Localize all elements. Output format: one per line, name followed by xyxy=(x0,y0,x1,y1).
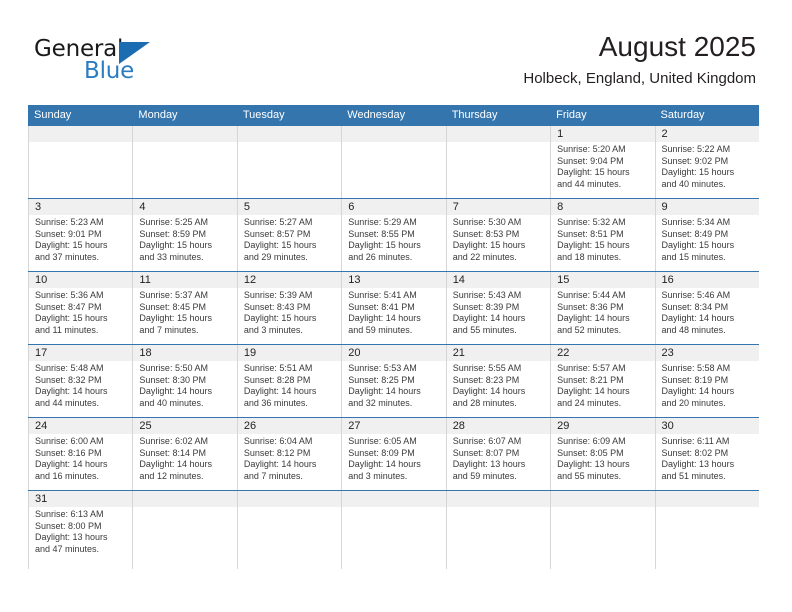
day-number: 16 xyxy=(662,272,754,288)
sunset-text: Sunset: 8:21 PM xyxy=(557,375,649,387)
day-number xyxy=(244,491,336,507)
sunset-text: Sunset: 8:55 PM xyxy=(348,229,440,241)
sunset-text: Sunset: 8:14 PM xyxy=(139,448,231,460)
day-sun-info: Sunrise: 5:23 AM Sunset: 9:01 PM Dayligh… xyxy=(35,217,127,263)
day-cell[interactable] xyxy=(446,491,550,569)
day-cell[interactable]: 27 Sunrise: 6:05 AM Sunset: 8:09 PM Dayl… xyxy=(341,418,445,490)
weekday-header-sunday: Sunday xyxy=(28,105,132,125)
daylight-text-line2: and 11 minutes. xyxy=(35,325,127,337)
day-sun-info: Sunrise: 6:11 AM Sunset: 8:02 PM Dayligh… xyxy=(662,436,754,482)
daylight-text-line2: and 51 minutes. xyxy=(662,471,754,483)
sunset-text: Sunset: 8:59 PM xyxy=(139,229,231,241)
day-cell[interactable]: 10 Sunrise: 5:36 AM Sunset: 8:47 PM Dayl… xyxy=(28,272,132,344)
calendar-grid: Sunday Monday Tuesday Wednesday Thursday… xyxy=(28,105,759,569)
daylight-text-line1: Daylight: 14 hours xyxy=(453,386,545,398)
weekday-header-friday: Friday xyxy=(550,105,654,125)
daylight-text-line2: and 15 minutes. xyxy=(662,252,754,264)
day-cell[interactable] xyxy=(132,126,236,198)
day-number: 29 xyxy=(557,418,649,434)
day-cell[interactable] xyxy=(446,126,550,198)
day-sun-info: Sunrise: 5:34 AM Sunset: 8:49 PM Dayligh… xyxy=(662,217,754,263)
sunrise-text: Sunrise: 5:41 AM xyxy=(348,290,440,302)
day-number: 13 xyxy=(348,272,440,288)
daylight-text-line2: and 37 minutes. xyxy=(35,252,127,264)
day-sun-info: Sunrise: 5:43 AM Sunset: 8:39 PM Dayligh… xyxy=(453,290,545,336)
week-row: 24 Sunrise: 6:00 AM Sunset: 8:16 PM Dayl… xyxy=(28,417,759,490)
sunrise-text: Sunrise: 6:05 AM xyxy=(348,436,440,448)
week-row: 1 Sunrise: 5:20 AM Sunset: 9:04 PM Dayli… xyxy=(28,125,759,198)
day-number: 26 xyxy=(244,418,336,434)
daylight-text-line2: and 47 minutes. xyxy=(35,544,127,556)
weekday-header-monday: Monday xyxy=(132,105,236,125)
page-subtitle: Holbeck, England, United Kingdom xyxy=(523,68,756,90)
sunset-text: Sunset: 8:47 PM xyxy=(35,302,127,314)
sunset-text: Sunset: 8:41 PM xyxy=(348,302,440,314)
daylight-text-line2: and 44 minutes. xyxy=(557,179,649,191)
day-number xyxy=(244,126,336,142)
day-sun-info: Sunrise: 5:37 AM Sunset: 8:45 PM Dayligh… xyxy=(139,290,231,336)
day-cell[interactable] xyxy=(655,491,759,569)
sunset-text: Sunset: 8:45 PM xyxy=(139,302,231,314)
general-blue-logo: General Blue xyxy=(34,36,234,88)
daylight-text-line1: Daylight: 15 hours xyxy=(35,313,127,325)
daylight-text-line2: and 59 minutes. xyxy=(453,471,545,483)
sunrise-text: Sunrise: 5:46 AM xyxy=(662,290,754,302)
daylight-text-line2: and 40 minutes. xyxy=(139,398,231,410)
day-number xyxy=(453,491,545,507)
daylight-text-line2: and 7 minutes. xyxy=(139,325,231,337)
day-cell[interactable]: 8 Sunrise: 5:32 AM Sunset: 8:51 PM Dayli… xyxy=(550,199,654,271)
day-number: 1 xyxy=(557,126,649,142)
day-number xyxy=(662,491,754,507)
sunset-text: Sunset: 8:34 PM xyxy=(662,302,754,314)
sunset-text: Sunset: 9:01 PM xyxy=(35,229,127,241)
day-sun-info: Sunrise: 5:39 AM Sunset: 8:43 PM Dayligh… xyxy=(244,290,336,336)
day-number xyxy=(557,491,649,507)
day-number: 11 xyxy=(139,272,231,288)
day-number: 21 xyxy=(453,345,545,361)
day-number xyxy=(139,491,231,507)
day-cell[interactable] xyxy=(237,491,341,569)
day-cell[interactable] xyxy=(550,491,654,569)
day-sun-info: Sunrise: 5:25 AM Sunset: 8:59 PM Dayligh… xyxy=(139,217,231,263)
day-number: 8 xyxy=(557,199,649,215)
day-cell[interactable] xyxy=(341,491,445,569)
day-cell[interactable]: 3 Sunrise: 5:23 AM Sunset: 9:01 PM Dayli… xyxy=(28,199,132,271)
day-number: 24 xyxy=(35,418,127,434)
day-sun-info: Sunrise: 6:05 AM Sunset: 8:09 PM Dayligh… xyxy=(348,436,440,482)
page-header: General Blue August 2025 Holbeck, Englan… xyxy=(0,0,792,100)
day-sun-info: Sunrise: 5:32 AM Sunset: 8:51 PM Dayligh… xyxy=(557,217,649,263)
day-sun-info: Sunrise: 5:50 AM Sunset: 8:30 PM Dayligh… xyxy=(139,363,231,409)
sunrise-text: Sunrise: 6:13 AM xyxy=(35,509,127,521)
day-sun-info: Sunrise: 5:44 AM Sunset: 8:36 PM Dayligh… xyxy=(557,290,649,336)
page-title: August 2025 xyxy=(523,30,756,64)
daylight-text-line1: Daylight: 15 hours xyxy=(662,167,754,179)
day-number: 17 xyxy=(35,345,127,361)
daylight-text-line2: and 32 minutes. xyxy=(348,398,440,410)
day-number: 9 xyxy=(662,199,754,215)
day-sun-info: Sunrise: 5:36 AM Sunset: 8:47 PM Dayligh… xyxy=(35,290,127,336)
day-cell[interactable]: 9 Sunrise: 5:34 AM Sunset: 8:49 PM Dayli… xyxy=(655,199,759,271)
sunset-text: Sunset: 8:57 PM xyxy=(244,229,336,241)
day-sun-info: Sunrise: 5:53 AM Sunset: 8:25 PM Dayligh… xyxy=(348,363,440,409)
day-sun-info: Sunrise: 5:46 AM Sunset: 8:34 PM Dayligh… xyxy=(662,290,754,336)
day-number: 20 xyxy=(348,345,440,361)
day-cell[interactable]: 18 Sunrise: 5:50 AM Sunset: 8:30 PM Dayl… xyxy=(132,345,236,417)
sunrise-text: Sunrise: 6:09 AM xyxy=(557,436,649,448)
sunrise-text: Sunrise: 5:22 AM xyxy=(662,144,754,156)
daylight-text-line1: Daylight: 14 hours xyxy=(35,386,127,398)
day-sun-info: Sunrise: 5:20 AM Sunset: 9:04 PM Dayligh… xyxy=(557,144,649,190)
daylight-text-line1: Daylight: 15 hours xyxy=(348,240,440,252)
sunrise-text: Sunrise: 6:02 AM xyxy=(139,436,231,448)
daylight-text-line1: Daylight: 14 hours xyxy=(557,313,649,325)
daylight-text-line1: Daylight: 15 hours xyxy=(557,167,649,179)
weekday-header-tuesday: Tuesday xyxy=(237,105,341,125)
day-number xyxy=(35,126,127,142)
daylight-text-line1: Daylight: 14 hours xyxy=(348,313,440,325)
day-number: 31 xyxy=(35,491,127,507)
sunset-text: Sunset: 8:36 PM xyxy=(557,302,649,314)
daylight-text-line2: and 7 minutes. xyxy=(244,471,336,483)
day-number: 2 xyxy=(662,126,754,142)
day-number: 5 xyxy=(244,199,336,215)
daylight-text-line1: Daylight: 13 hours xyxy=(453,459,545,471)
day-number: 18 xyxy=(139,345,231,361)
day-cell[interactable]: 17 Sunrise: 5:48 AM Sunset: 8:32 PM Dayl… xyxy=(28,345,132,417)
day-number xyxy=(348,491,440,507)
day-cell[interactable]: 30 Sunrise: 6:11 AM Sunset: 8:02 PM Dayl… xyxy=(655,418,759,490)
day-cell[interactable]: 1 Sunrise: 5:20 AM Sunset: 9:04 PM Dayli… xyxy=(550,126,654,198)
day-cell[interactable]: 31 Sunrise: 6:13 AM Sunset: 8:00 PM Dayl… xyxy=(28,491,132,569)
sunset-text: Sunset: 8:53 PM xyxy=(453,229,545,241)
weekday-header-saturday: Saturday xyxy=(655,105,759,125)
day-cell[interactable] xyxy=(28,126,132,198)
daylight-text-line2: and 22 minutes. xyxy=(453,252,545,264)
sunrise-text: Sunrise: 5:36 AM xyxy=(35,290,127,302)
sunrise-text: Sunrise: 5:27 AM xyxy=(244,217,336,229)
sunrise-text: Sunrise: 5:51 AM xyxy=(244,363,336,375)
daylight-text-line2: and 55 minutes. xyxy=(557,471,649,483)
daylight-text-line2: and 24 minutes. xyxy=(557,398,649,410)
sunset-text: Sunset: 8:51 PM xyxy=(557,229,649,241)
daylight-text-line1: Daylight: 15 hours xyxy=(662,240,754,252)
day-cell[interactable]: 29 Sunrise: 6:09 AM Sunset: 8:05 PM Dayl… xyxy=(550,418,654,490)
sunrise-text: Sunrise: 5:48 AM xyxy=(35,363,127,375)
day-sun-info: Sunrise: 6:07 AM Sunset: 8:07 PM Dayligh… xyxy=(453,436,545,482)
day-sun-info: Sunrise: 6:04 AM Sunset: 8:12 PM Dayligh… xyxy=(244,436,336,482)
sunset-text: Sunset: 8:16 PM xyxy=(35,448,127,460)
daylight-text-line1: Daylight: 14 hours xyxy=(557,386,649,398)
sunset-text: Sunset: 8:07 PM xyxy=(453,448,545,460)
sunset-text: Sunset: 8:49 PM xyxy=(662,229,754,241)
daylight-text-line1: Daylight: 14 hours xyxy=(348,386,440,398)
sunrise-text: Sunrise: 5:57 AM xyxy=(557,363,649,375)
day-number: 27 xyxy=(348,418,440,434)
daylight-text-line2: and 48 minutes. xyxy=(662,325,754,337)
day-number: 7 xyxy=(453,199,545,215)
daylight-text-line1: Daylight: 15 hours xyxy=(139,240,231,252)
day-number: 19 xyxy=(244,345,336,361)
sunset-text: Sunset: 8:12 PM xyxy=(244,448,336,460)
day-cell[interactable]: 23 Sunrise: 5:58 AM Sunset: 8:19 PM Dayl… xyxy=(655,345,759,417)
day-number xyxy=(348,126,440,142)
weekday-header-thursday: Thursday xyxy=(446,105,550,125)
sunset-text: Sunset: 9:04 PM xyxy=(557,156,649,168)
sunrise-text: Sunrise: 6:07 AM xyxy=(453,436,545,448)
sunset-text: Sunset: 8:09 PM xyxy=(348,448,440,460)
day-cell[interactable]: 11 Sunrise: 5:37 AM Sunset: 8:45 PM Dayl… xyxy=(132,272,236,344)
title-block: August 2025 Holbeck, England, United Kin… xyxy=(523,30,756,90)
sunrise-text: Sunrise: 5:29 AM xyxy=(348,217,440,229)
sunrise-text: Sunrise: 5:30 AM xyxy=(453,217,545,229)
day-sun-info: Sunrise: 5:41 AM Sunset: 8:41 PM Dayligh… xyxy=(348,290,440,336)
sunrise-text: Sunrise: 5:50 AM xyxy=(139,363,231,375)
daylight-text-line2: and 12 minutes. xyxy=(139,471,231,483)
day-number: 28 xyxy=(453,418,545,434)
sunset-text: Sunset: 8:00 PM xyxy=(35,521,127,533)
sunrise-text: Sunrise: 5:53 AM xyxy=(348,363,440,375)
daylight-text-line2: and 26 minutes. xyxy=(348,252,440,264)
sunrise-text: Sunrise: 5:55 AM xyxy=(453,363,545,375)
daylight-text-line1: Daylight: 14 hours xyxy=(139,459,231,471)
day-sun-info: Sunrise: 5:22 AM Sunset: 9:02 PM Dayligh… xyxy=(662,144,754,190)
day-cell[interactable]: 13 Sunrise: 5:41 AM Sunset: 8:41 PM Dayl… xyxy=(341,272,445,344)
day-cell[interactable]: 14 Sunrise: 5:43 AM Sunset: 8:39 PM Dayl… xyxy=(446,272,550,344)
day-cell[interactable]: 5 Sunrise: 5:27 AM Sunset: 8:57 PM Dayli… xyxy=(237,199,341,271)
day-cell[interactable]: 26 Sunrise: 6:04 AM Sunset: 8:12 PM Dayl… xyxy=(237,418,341,490)
daylight-text-line2: and 20 minutes. xyxy=(662,398,754,410)
sunset-text: Sunset: 9:02 PM xyxy=(662,156,754,168)
week-row: 10 Sunrise: 5:36 AM Sunset: 8:47 PM Dayl… xyxy=(28,271,759,344)
day-number: 6 xyxy=(348,199,440,215)
sunrise-text: Sunrise: 5:39 AM xyxy=(244,290,336,302)
daylight-text-line1: Daylight: 14 hours xyxy=(348,459,440,471)
daylight-text-line1: Daylight: 14 hours xyxy=(662,386,754,398)
day-number: 3 xyxy=(35,199,127,215)
sunrise-text: Sunrise: 5:20 AM xyxy=(557,144,649,156)
day-number: 25 xyxy=(139,418,231,434)
day-number: 14 xyxy=(453,272,545,288)
daylight-text-line2: and 33 minutes. xyxy=(139,252,231,264)
day-cell[interactable]: 19 Sunrise: 5:51 AM Sunset: 8:28 PM Dayl… xyxy=(237,345,341,417)
week-row: 17 Sunrise: 5:48 AM Sunset: 8:32 PM Dayl… xyxy=(28,344,759,417)
daylight-text-line1: Daylight: 14 hours xyxy=(139,386,231,398)
daylight-text-line1: Daylight: 15 hours xyxy=(244,240,336,252)
daylight-text-line2: and 3 minutes. xyxy=(348,471,440,483)
day-cell[interactable]: 25 Sunrise: 6:02 AM Sunset: 8:14 PM Dayl… xyxy=(132,418,236,490)
day-number: 30 xyxy=(662,418,754,434)
sunset-text: Sunset: 8:28 PM xyxy=(244,375,336,387)
day-number: 12 xyxy=(244,272,336,288)
daylight-text-line2: and 3 minutes. xyxy=(244,325,336,337)
daylight-text-line2: and 44 minutes. xyxy=(35,398,127,410)
sunset-text: Sunset: 8:02 PM xyxy=(662,448,754,460)
day-sun-info: Sunrise: 6:09 AM Sunset: 8:05 PM Dayligh… xyxy=(557,436,649,482)
sunrise-text: Sunrise: 5:34 AM xyxy=(662,217,754,229)
daylight-text-line2: and 52 minutes. xyxy=(557,325,649,337)
daylight-text-line2: and 40 minutes. xyxy=(662,179,754,191)
day-cell[interactable]: 22 Sunrise: 5:57 AM Sunset: 8:21 PM Dayl… xyxy=(550,345,654,417)
sunset-text: Sunset: 8:30 PM xyxy=(139,375,231,387)
day-sun-info: Sunrise: 5:55 AM Sunset: 8:23 PM Dayligh… xyxy=(453,363,545,409)
daylight-text-line1: Daylight: 14 hours xyxy=(662,313,754,325)
week-row: 31 Sunrise: 6:13 AM Sunset: 8:00 PM Dayl… xyxy=(28,490,759,569)
day-sun-info: Sunrise: 5:48 AM Sunset: 8:32 PM Dayligh… xyxy=(35,363,127,409)
sunrise-text: Sunrise: 5:23 AM xyxy=(35,217,127,229)
daylight-text-line1: Daylight: 14 hours xyxy=(244,459,336,471)
daylight-text-line2: and 16 minutes. xyxy=(35,471,127,483)
day-cell[interactable]: 4 Sunrise: 5:25 AM Sunset: 8:59 PM Dayli… xyxy=(132,199,236,271)
daylight-text-line1: Daylight: 13 hours xyxy=(35,532,127,544)
day-sun-info: Sunrise: 5:29 AM Sunset: 8:55 PM Dayligh… xyxy=(348,217,440,263)
daylight-text-line2: and 59 minutes. xyxy=(348,325,440,337)
day-sun-info: Sunrise: 5:58 AM Sunset: 8:19 PM Dayligh… xyxy=(662,363,754,409)
sunrise-text: Sunrise: 6:00 AM xyxy=(35,436,127,448)
day-sun-info: Sunrise: 5:51 AM Sunset: 8:28 PM Dayligh… xyxy=(244,363,336,409)
day-cell[interactable]: 2 Sunrise: 5:22 AM Sunset: 9:02 PM Dayli… xyxy=(655,126,759,198)
day-cell[interactable]: 21 Sunrise: 5:55 AM Sunset: 8:23 PM Dayl… xyxy=(446,345,550,417)
week-row: 3 Sunrise: 5:23 AM Sunset: 9:01 PM Dayli… xyxy=(28,198,759,271)
daylight-text-line1: Daylight: 14 hours xyxy=(453,313,545,325)
day-cell[interactable]: 28 Sunrise: 6:07 AM Sunset: 8:07 PM Dayl… xyxy=(446,418,550,490)
day-cell[interactable]: 20 Sunrise: 5:53 AM Sunset: 8:25 PM Dayl… xyxy=(341,345,445,417)
daylight-text-line1: Daylight: 14 hours xyxy=(35,459,127,471)
sunset-text: Sunset: 8:19 PM xyxy=(662,375,754,387)
daylight-text-line1: Daylight: 15 hours xyxy=(557,240,649,252)
day-sun-info: Sunrise: 5:57 AM Sunset: 8:21 PM Dayligh… xyxy=(557,363,649,409)
day-number: 15 xyxy=(557,272,649,288)
sunset-text: Sunset: 8:39 PM xyxy=(453,302,545,314)
sunset-text: Sunset: 8:25 PM xyxy=(348,375,440,387)
daylight-text-line1: Daylight: 15 hours xyxy=(244,313,336,325)
day-number xyxy=(453,126,545,142)
logo-text-blue: Blue xyxy=(84,58,134,84)
weekday-header-row: Sunday Monday Tuesday Wednesday Thursday… xyxy=(28,105,759,125)
day-sun-info: Sunrise: 5:27 AM Sunset: 8:57 PM Dayligh… xyxy=(244,217,336,263)
day-sun-info: Sunrise: 6:13 AM Sunset: 8:00 PM Dayligh… xyxy=(35,509,127,555)
daylight-text-line2: and 18 minutes. xyxy=(557,252,649,264)
day-cell[interactable]: 15 Sunrise: 5:44 AM Sunset: 8:36 PM Dayl… xyxy=(550,272,654,344)
day-cell[interactable] xyxy=(341,126,445,198)
day-cell[interactable]: 6 Sunrise: 5:29 AM Sunset: 8:55 PM Dayli… xyxy=(341,199,445,271)
sunrise-text: Sunrise: 6:11 AM xyxy=(662,436,754,448)
day-cell[interactable]: 16 Sunrise: 5:46 AM Sunset: 8:34 PM Dayl… xyxy=(655,272,759,344)
daylight-text-line1: Daylight: 14 hours xyxy=(244,386,336,398)
daylight-text-line2: and 55 minutes. xyxy=(453,325,545,337)
sunrise-text: Sunrise: 5:25 AM xyxy=(139,217,231,229)
sunset-text: Sunset: 8:32 PM xyxy=(35,375,127,387)
day-cell[interactable] xyxy=(132,491,236,569)
day-number: 4 xyxy=(139,199,231,215)
daylight-text-line1: Daylight: 13 hours xyxy=(557,459,649,471)
sunrise-text: Sunrise: 6:04 AM xyxy=(244,436,336,448)
sunset-text: Sunset: 8:43 PM xyxy=(244,302,336,314)
day-cell[interactable]: 24 Sunrise: 6:00 AM Sunset: 8:16 PM Dayl… xyxy=(28,418,132,490)
day-number: 10 xyxy=(35,272,127,288)
sunset-text: Sunset: 8:05 PM xyxy=(557,448,649,460)
day-cell[interactable] xyxy=(237,126,341,198)
daylight-text-line2: and 36 minutes. xyxy=(244,398,336,410)
daylight-text-line1: Daylight: 15 hours xyxy=(35,240,127,252)
daylight-text-line1: Daylight: 13 hours xyxy=(662,459,754,471)
sunrise-text: Sunrise: 5:43 AM xyxy=(453,290,545,302)
daylight-text-line2: and 29 minutes. xyxy=(244,252,336,264)
day-cell[interactable]: 12 Sunrise: 5:39 AM Sunset: 8:43 PM Dayl… xyxy=(237,272,341,344)
weekday-header-wednesday: Wednesday xyxy=(341,105,445,125)
daylight-text-line2: and 28 minutes. xyxy=(453,398,545,410)
day-number: 22 xyxy=(557,345,649,361)
day-number: 23 xyxy=(662,345,754,361)
sunrise-text: Sunrise: 5:32 AM xyxy=(557,217,649,229)
day-number xyxy=(139,126,231,142)
day-sun-info: Sunrise: 5:30 AM Sunset: 8:53 PM Dayligh… xyxy=(453,217,545,263)
day-sun-info: Sunrise: 6:02 AM Sunset: 8:14 PM Dayligh… xyxy=(139,436,231,482)
day-sun-info: Sunrise: 6:00 AM Sunset: 8:16 PM Dayligh… xyxy=(35,436,127,482)
sunrise-text: Sunrise: 5:37 AM xyxy=(139,290,231,302)
daylight-text-line1: Daylight: 15 hours xyxy=(453,240,545,252)
calendar-page: General Blue August 2025 Holbeck, Englan… xyxy=(0,0,792,612)
day-cell[interactable]: 7 Sunrise: 5:30 AM Sunset: 8:53 PM Dayli… xyxy=(446,199,550,271)
sunrise-text: Sunrise: 5:44 AM xyxy=(557,290,649,302)
daylight-text-line1: Daylight: 15 hours xyxy=(139,313,231,325)
sunrise-text: Sunrise: 5:58 AM xyxy=(662,363,754,375)
sunset-text: Sunset: 8:23 PM xyxy=(453,375,545,387)
